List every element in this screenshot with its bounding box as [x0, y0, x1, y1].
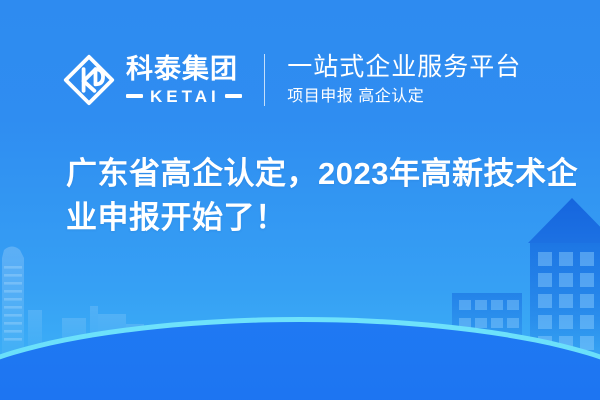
logo-dash-left-icon	[126, 94, 143, 98]
bottom-arc-decoration	[0, 310, 600, 400]
slogan-block: 一站式企业服务平台 项目申报 高企认定	[287, 54, 521, 106]
brand-name-en-row: KETAI	[126, 88, 242, 105]
brand-name-en: KETAI	[150, 88, 220, 105]
headline-text: 广东省高企认定，2023年高新技术企业申报开始了！	[66, 152, 582, 240]
brand-logo[interactable]: 科泰集团 KETAI	[62, 53, 242, 107]
slogan-main: 一站式企业服务平台	[287, 54, 521, 81]
ketai-diamond-kp-logo-icon	[62, 53, 116, 107]
brand-logo-text: 科泰集团 KETAI	[126, 56, 242, 105]
banner-header: 科泰集团 KETAI 一站式企业服务平台 项目申报 高企认定	[0, 40, 600, 120]
brand-name-cn: 科泰集团	[126, 56, 242, 83]
header-divider	[264, 54, 266, 106]
logo-dash-right-icon	[225, 94, 242, 98]
promo-banner: 科泰集团 KETAI 一站式企业服务平台 项目申报 高企认定 广东省高企认定，2…	[0, 0, 600, 400]
slogan-sub: 项目申报 高企认定	[287, 88, 521, 106]
